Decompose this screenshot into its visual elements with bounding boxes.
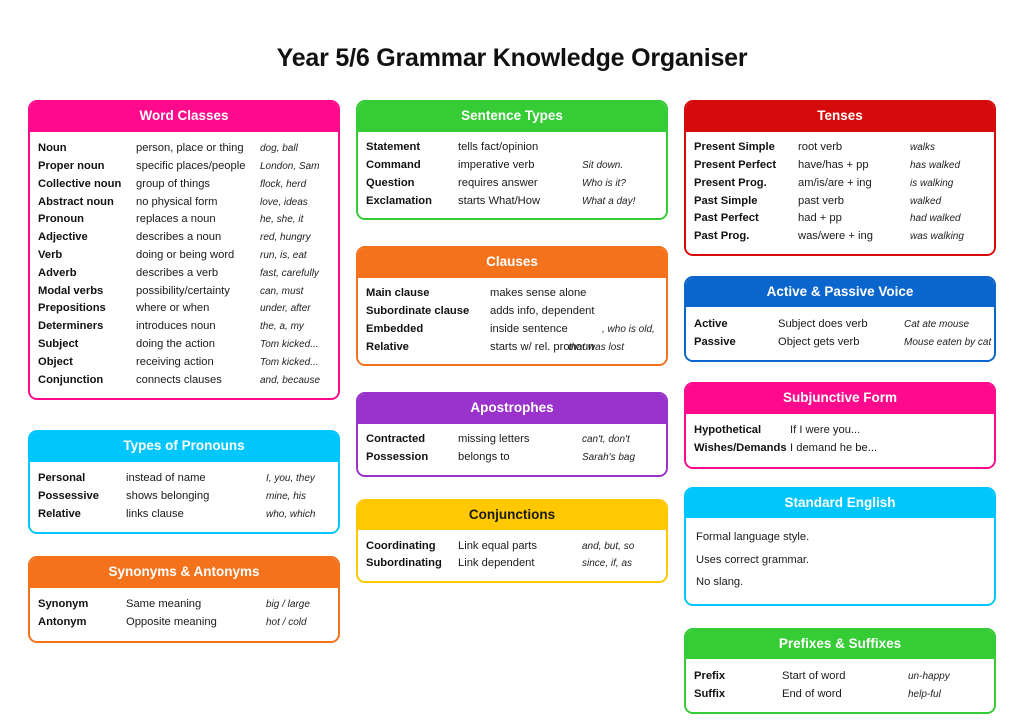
row-definition: missing letters bbox=[458, 434, 582, 445]
row-term: Prepositions bbox=[38, 303, 136, 314]
card-header-sentence-types: Sentence Types bbox=[358, 102, 666, 132]
row-definition: imperative verb bbox=[458, 160, 582, 171]
row-definition: belongs to bbox=[458, 452, 582, 463]
row-definition: tells fact/opinion bbox=[458, 142, 582, 153]
card-synonyms-antonyms: Synonyms & Antonyms SynonymSame meaningb… bbox=[28, 556, 340, 642]
row-definition: root verb bbox=[798, 142, 910, 153]
table-row: Conjunctionconnects clausesand, because bbox=[38, 371, 330, 389]
table-row: SynonymSame meaningbig / large bbox=[38, 596, 330, 614]
table-row: AntonymOpposite meaninghot / cold bbox=[38, 614, 330, 632]
text-line: No slang. bbox=[694, 572, 986, 595]
table-row: Collective noungroup of thingsflock, her… bbox=[38, 175, 330, 193]
row-definition: I demand he be... bbox=[790, 443, 877, 454]
row-example: since, if, as bbox=[582, 559, 632, 569]
row-example: help-ful bbox=[908, 690, 941, 700]
table-row: Abstract nounno physical formlove, ideas bbox=[38, 193, 330, 211]
row-example: can't, don't bbox=[582, 435, 630, 445]
row-term: Contracted bbox=[366, 434, 458, 445]
row-example: love, ideas bbox=[260, 198, 308, 208]
card-sentence-types: Sentence Types Statementtells fact/opini… bbox=[356, 100, 668, 220]
table-row: Past Perfecthad + pphad walked bbox=[694, 210, 986, 228]
row-term: Adjective bbox=[38, 232, 136, 243]
page-title: Year 5/6 Grammar Knowledge Organiser bbox=[0, 0, 1024, 73]
middle-column: Sentence Types Statementtells fact/opini… bbox=[356, 100, 668, 583]
row-definition: adds info, dependent bbox=[490, 306, 598, 317]
row-definition: am/is/are + ing bbox=[798, 178, 910, 189]
row-term: Past Simple bbox=[694, 196, 798, 207]
card-subjunctive-form: Subjunctive Form HypotheticalIf I were y… bbox=[684, 382, 996, 468]
table-row: Commandimperative verbSit down. bbox=[366, 157, 658, 175]
table-row: Personalinstead of nameI, you, they bbox=[38, 470, 330, 488]
row-example: Tom kicked... bbox=[260, 358, 319, 368]
card-apostrophes: Apostrophes Contractedmissing letterscan… bbox=[356, 392, 668, 476]
row-example: London, Sam bbox=[260, 162, 320, 172]
table-row: Relativestarts w/ rel. pronounthat was l… bbox=[366, 338, 658, 356]
card-header-clauses: Clauses bbox=[358, 248, 666, 278]
row-example: hot / cold bbox=[266, 618, 307, 628]
row-term: Possessive bbox=[38, 491, 126, 502]
table-row: Wishes/DemandsI demand he be... bbox=[694, 440, 986, 458]
table-row: Verbdoing or being wordrun, is, eat bbox=[38, 247, 330, 265]
row-definition: requires answer bbox=[458, 178, 582, 189]
row-example: flock, herd bbox=[260, 180, 306, 190]
row-definition: makes sense alone bbox=[490, 288, 598, 299]
row-definition: person, place or thing bbox=[136, 143, 260, 154]
table-row: Relativelinks clausewho, which bbox=[38, 505, 330, 523]
card-body-word-classes: Nounperson, place or thingdog, ballPrope… bbox=[30, 132, 338, 398]
row-term: Pronoun bbox=[38, 214, 136, 225]
row-definition: Link equal parts bbox=[458, 541, 582, 552]
table-row: PrefixStart of wordun-happy bbox=[694, 667, 986, 685]
row-example: that was lost bbox=[568, 343, 624, 353]
card-header-conjunctions: Conjunctions bbox=[358, 501, 666, 531]
table-row: ActiveSubject does verbCat ate mouse bbox=[694, 315, 986, 333]
row-definition: had + pp bbox=[798, 213, 910, 224]
row-definition: starts What/How bbox=[458, 196, 582, 207]
row-definition: introduces noun bbox=[136, 321, 260, 332]
card-body-conjunctions: CoordinatingLink equal partsand, but, so… bbox=[358, 530, 666, 581]
card-body-sentence-types: Statementtells fact/opinionCommandimpera… bbox=[358, 132, 666, 218]
right-column: Tenses Present Simpleroot verbwalksPrese… bbox=[684, 100, 996, 714]
card-header-types-of-pronouns: Types of Pronouns bbox=[30, 432, 338, 462]
row-term: Question bbox=[366, 178, 458, 189]
card-clauses: Clauses Main clausemakes sense aloneSubo… bbox=[356, 246, 668, 366]
table-row: Adverbdescribes a verbfast, carefully bbox=[38, 264, 330, 282]
card-conjunctions: Conjunctions CoordinatingLink equal part… bbox=[356, 499, 668, 583]
row-definition: doing the action bbox=[136, 339, 260, 350]
row-term: Active bbox=[694, 319, 778, 330]
row-definition: instead of name bbox=[126, 473, 266, 484]
row-example: mine, his bbox=[266, 492, 306, 502]
row-term: Command bbox=[366, 160, 458, 171]
row-definition: past verb bbox=[798, 196, 910, 207]
table-row: Nounperson, place or thingdog, ball bbox=[38, 140, 330, 158]
row-example: Sarah's bag bbox=[582, 453, 635, 463]
table-row: Pronounreplaces a nounhe, she, it bbox=[38, 211, 330, 229]
table-row: Questionrequires answerWho is it? bbox=[366, 174, 658, 192]
row-term: Present Perfect bbox=[694, 160, 798, 171]
row-term: Wishes/Demands bbox=[694, 443, 790, 454]
row-example: the, a, my bbox=[260, 322, 304, 332]
row-definition: links clause bbox=[126, 509, 266, 520]
row-example: and, but, so bbox=[582, 542, 634, 552]
row-definition: was/were + ing bbox=[798, 231, 910, 242]
row-example: who, which bbox=[266, 510, 315, 520]
table-row: Subjectdoing the actionTom kicked... bbox=[38, 336, 330, 354]
row-definition: receiving action bbox=[136, 357, 260, 368]
card-body-types-of-pronouns: Personalinstead of nameI, you, theyPosse… bbox=[30, 462, 338, 532]
card-body-tenses: Present Simpleroot verbwalksPresent Perf… bbox=[686, 132, 994, 254]
table-row: CoordinatingLink equal partsand, but, so bbox=[366, 537, 658, 555]
card-header-standard-english: Standard English bbox=[686, 489, 994, 519]
row-term: Abstract noun bbox=[38, 197, 136, 208]
table-row: Embeddedinside sentence, who is old, bbox=[366, 320, 658, 338]
row-example: under, after bbox=[260, 304, 311, 314]
card-body-apostrophes: Contractedmissing letterscan't, don'tPos… bbox=[358, 424, 666, 475]
row-term: Subordinating bbox=[366, 558, 458, 569]
card-header-apostrophes: Apostrophes bbox=[358, 394, 666, 424]
card-word-classes: Word Classes Nounperson, place or thingd… bbox=[28, 100, 340, 400]
row-definition: Object gets verb bbox=[778, 337, 904, 348]
card-active-passive-voice: Active & Passive Voice ActiveSubject doe… bbox=[684, 276, 996, 362]
row-definition: Link dependent bbox=[458, 558, 582, 569]
row-definition: describes a verb bbox=[136, 268, 260, 279]
row-term: Relative bbox=[366, 342, 490, 353]
row-term: Relative bbox=[38, 509, 126, 520]
table-row: Modal verbspossibility/certaintycan, mus… bbox=[38, 282, 330, 300]
row-example: run, is, eat bbox=[260, 251, 307, 261]
table-row: Present Simpleroot verbwalks bbox=[694, 139, 986, 157]
row-term: Past Prog. bbox=[694, 231, 798, 242]
card-body-prefixes-suffixes: PrefixStart of wordun-happySuffixEnd of … bbox=[686, 659, 994, 712]
text-line: Formal language style. bbox=[694, 526, 986, 549]
card-header-subjunctive-form: Subjunctive Form bbox=[686, 384, 994, 414]
row-example: What a day! bbox=[582, 197, 635, 207]
table-row: SubordinatingLink dependentsince, if, as bbox=[366, 555, 658, 573]
row-example: can, must bbox=[260, 287, 303, 297]
row-definition: inside sentence bbox=[490, 324, 598, 335]
row-definition: no physical form bbox=[136, 197, 260, 208]
row-term: Object bbox=[38, 357, 136, 368]
row-example: has walked bbox=[910, 161, 960, 171]
row-example: was walking bbox=[910, 232, 964, 242]
row-definition: have/has + pp bbox=[798, 160, 910, 171]
table-row: Possessiveshows belongingmine, his bbox=[38, 488, 330, 506]
table-row: Possessionbelongs toSarah's bag bbox=[366, 449, 658, 467]
row-term: Passive bbox=[694, 337, 778, 348]
row-definition: shows belonging bbox=[126, 491, 266, 502]
table-row: Present Perfecthave/has + pphas walked bbox=[694, 157, 986, 175]
card-body-active-passive-voice: ActiveSubject does verbCat ate mousePass… bbox=[686, 307, 994, 360]
row-example: Sit down. bbox=[582, 161, 623, 171]
row-term: Conjunction bbox=[38, 375, 136, 386]
row-term: Hypothetical bbox=[694, 425, 790, 436]
row-example: Cat ate mouse bbox=[904, 320, 969, 330]
row-term: Statement bbox=[366, 142, 458, 153]
row-example: walks bbox=[910, 143, 935, 153]
row-term: Modal verbs bbox=[38, 286, 136, 297]
row-definition: Subject does verb bbox=[778, 319, 904, 330]
card-prefixes-suffixes: Prefixes & Suffixes PrefixStart of wordu… bbox=[684, 628, 996, 714]
table-row: SuffixEnd of wordhelp-ful bbox=[694, 685, 986, 703]
row-example: walked bbox=[910, 197, 941, 207]
row-term: Antonym bbox=[38, 617, 126, 628]
table-row: Present Prog.am/is/are + ingis walking bbox=[694, 174, 986, 192]
table-row: Adjectivedescribes a nounred, hungry bbox=[38, 229, 330, 247]
table-row: HypotheticalIf I were you... bbox=[694, 422, 986, 440]
row-example: fast, carefully bbox=[260, 269, 319, 279]
row-example: had walked bbox=[910, 214, 961, 224]
left-column: Word Classes Nounperson, place or thingd… bbox=[28, 100, 340, 643]
row-example: Tom kicked... bbox=[260, 340, 319, 350]
row-example: he, she, it bbox=[260, 215, 303, 225]
row-definition: where or when bbox=[136, 303, 260, 314]
card-header-word-classes: Word Classes bbox=[30, 102, 338, 132]
row-term: Personal bbox=[38, 473, 126, 484]
row-example: Mouse eaten by cat bbox=[904, 338, 991, 348]
row-example: and, because bbox=[260, 376, 320, 386]
card-body-synonyms-antonyms: SynonymSame meaningbig / largeAntonymOpp… bbox=[30, 588, 338, 641]
table-row: Contractedmissing letterscan't, don't bbox=[366, 431, 658, 449]
card-tenses: Tenses Present Simpleroot verbwalksPrese… bbox=[684, 100, 996, 256]
row-definition: doing or being word bbox=[136, 250, 260, 261]
table-row: Prepositionswhere or whenunder, after bbox=[38, 300, 330, 318]
row-term: Main clause bbox=[366, 288, 490, 299]
row-definition: group of things bbox=[136, 179, 260, 190]
row-example: is walking bbox=[910, 179, 953, 189]
row-example: Who is it? bbox=[582, 179, 626, 189]
table-row: Exclamationstarts What/HowWhat a day! bbox=[366, 192, 658, 210]
row-term: Synonym bbox=[38, 599, 126, 610]
card-header-active-passive-voice: Active & Passive Voice bbox=[686, 278, 994, 308]
row-example: I, you, they bbox=[266, 474, 315, 484]
card-header-synonyms-antonyms: Synonyms & Antonyms bbox=[30, 558, 338, 588]
row-definition: End of word bbox=[782, 689, 908, 700]
row-term: Subordinate clause bbox=[366, 306, 490, 317]
row-example: un-happy bbox=[908, 672, 950, 682]
row-term: Embedded bbox=[366, 324, 490, 335]
table-row: PassiveObject gets verbMouse eaten by ca… bbox=[694, 333, 986, 351]
row-term: Determiners bbox=[38, 321, 136, 332]
row-term: Past Perfect bbox=[694, 213, 798, 224]
table-row: Main clausemakes sense alone bbox=[366, 285, 658, 303]
row-term: Collective noun bbox=[38, 179, 136, 190]
row-example: , who is old, bbox=[602, 325, 655, 335]
row-example: red, hungry bbox=[260, 233, 311, 243]
row-term: Subject bbox=[38, 339, 136, 350]
table-row: Objectreceiving actionTom kicked... bbox=[38, 353, 330, 371]
row-term: Possession bbox=[366, 452, 458, 463]
poster-columns: Word Classes Nounperson, place or thingd… bbox=[0, 100, 1024, 714]
row-definition: If I were you... bbox=[790, 425, 860, 436]
row-definition: describes a noun bbox=[136, 232, 260, 243]
text-line: Uses correct grammar. bbox=[694, 549, 986, 572]
table-row: Statementtells fact/opinion bbox=[366, 139, 658, 157]
card-header-tenses: Tenses bbox=[686, 102, 994, 132]
row-term: Prefix bbox=[694, 671, 782, 682]
row-definition: specific places/people bbox=[136, 161, 260, 172]
table-row: Subordinate clauseadds info, dependent bbox=[366, 303, 658, 321]
row-definition: connects clauses bbox=[136, 375, 260, 386]
row-example: big / large bbox=[266, 600, 310, 610]
table-row: Past Prog.was/were + ingwas walking bbox=[694, 228, 986, 246]
card-header-prefixes-suffixes: Prefixes & Suffixes bbox=[686, 630, 994, 660]
row-term: Verb bbox=[38, 250, 136, 261]
card-standard-english: Standard English Formal language style.U… bbox=[684, 487, 996, 606]
row-definition: Opposite meaning bbox=[126, 617, 266, 628]
card-body-clauses: Main clausemakes sense aloneSubordinate … bbox=[358, 278, 666, 364]
card-types-of-pronouns: Types of Pronouns Personalinstead of nam… bbox=[28, 430, 340, 534]
card-body-standard-english: Formal language style.Uses correct gramm… bbox=[686, 518, 994, 603]
row-term: Adverb bbox=[38, 268, 136, 279]
row-term: Suffix bbox=[694, 689, 782, 700]
row-definition: possibility/certainty bbox=[136, 286, 260, 297]
row-definition: Same meaning bbox=[126, 599, 266, 610]
row-definition: replaces a noun bbox=[136, 214, 260, 225]
row-definition: Start of word bbox=[782, 671, 908, 682]
row-term: Present Simple bbox=[694, 142, 798, 153]
table-row: Determinersintroduces nounthe, a, my bbox=[38, 318, 330, 336]
row-example: dog, ball bbox=[260, 144, 298, 154]
table-row: Past Simplepast verbwalked bbox=[694, 192, 986, 210]
row-term: Proper noun bbox=[38, 161, 136, 172]
table-row: Proper nounspecific places/peopleLondon,… bbox=[38, 158, 330, 176]
row-term: Present Prog. bbox=[694, 178, 798, 189]
card-body-subjunctive-form: HypotheticalIf I were you...Wishes/Deman… bbox=[686, 414, 994, 467]
row-term: Exclamation bbox=[366, 196, 458, 207]
row-term: Noun bbox=[38, 143, 136, 154]
row-term: Coordinating bbox=[366, 541, 458, 552]
